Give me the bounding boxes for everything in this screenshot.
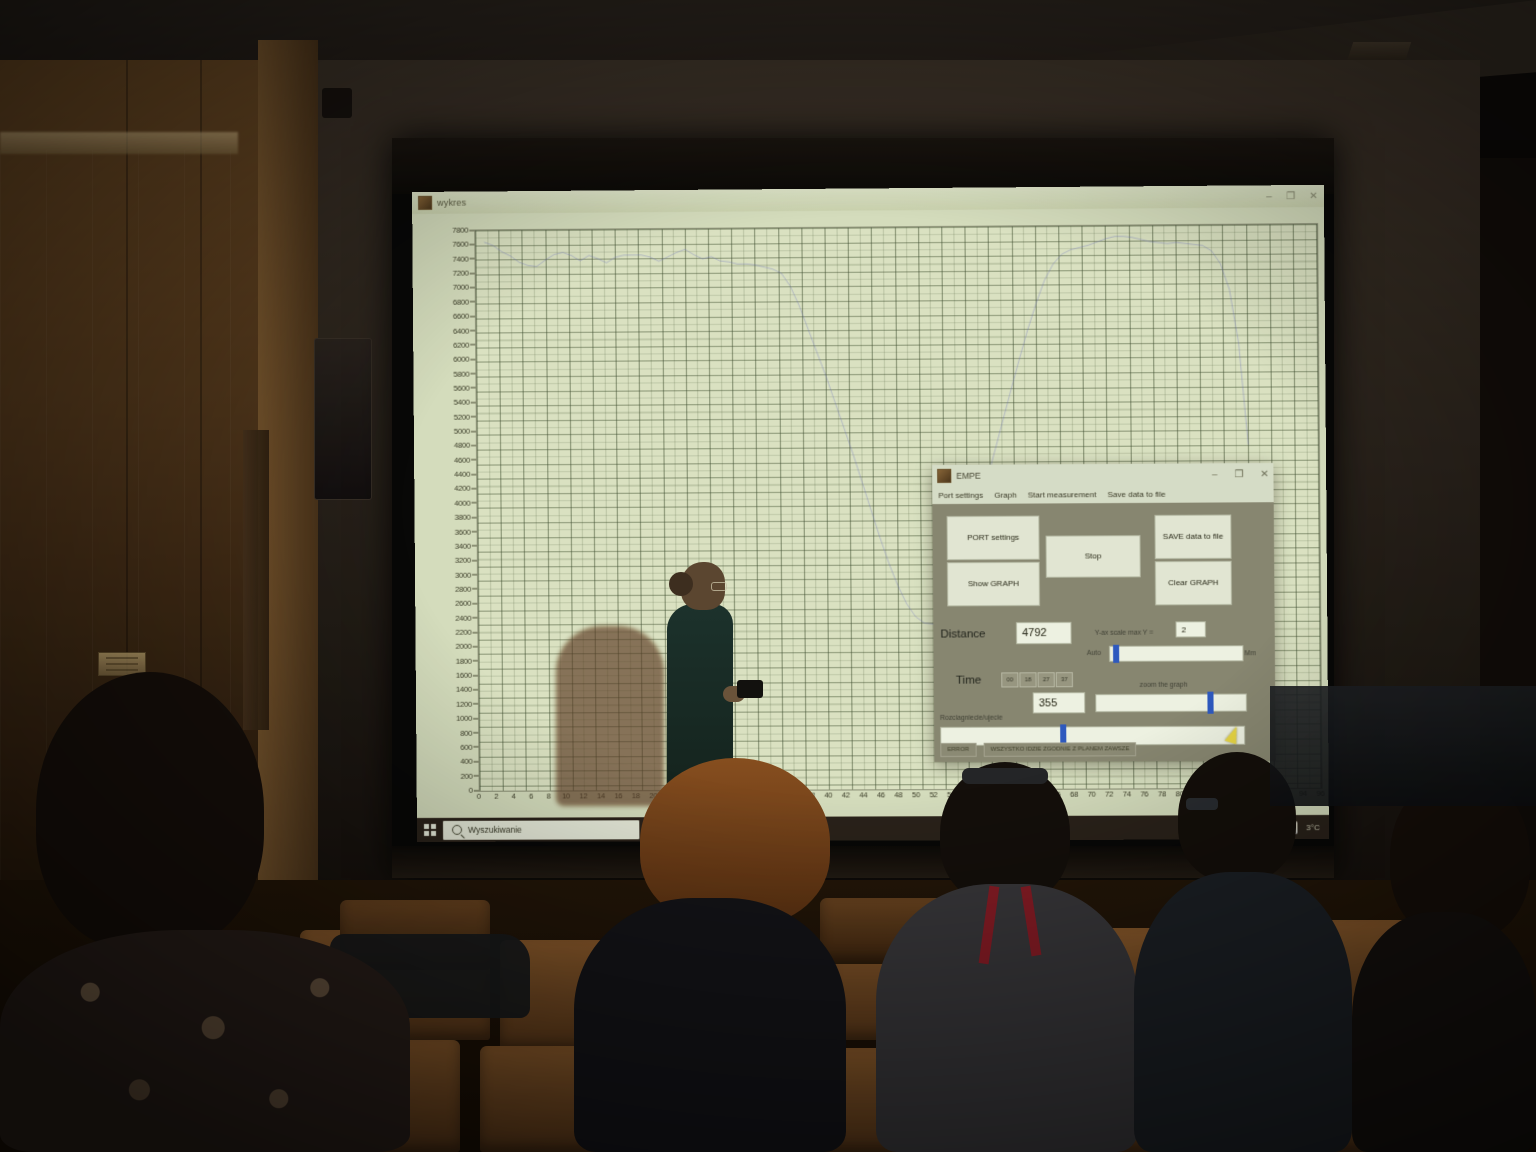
weather-temperature: 3°C	[1306, 823, 1320, 832]
time-label: Time	[956, 675, 981, 687]
empe-titlebar[interactable]: EMPE – ❐ ✕	[932, 463, 1274, 487]
chrome-icon[interactable]	[655, 823, 668, 836]
wall-sign	[98, 652, 146, 676]
status-error: ERROR	[940, 743, 976, 757]
chair	[1080, 928, 1280, 1040]
projected-desktop: wykres – ❐ ✕ 020040060080010001200140016…	[412, 185, 1329, 842]
menu-start-measurement[interactable]: Start measurement	[1028, 490, 1097, 499]
wood-planks	[0, 150, 262, 970]
x-tick-label: 32	[754, 791, 762, 800]
screen-bottom-bar	[392, 846, 1334, 878]
ceiling-light	[0, 132, 238, 154]
notes-icon[interactable]	[734, 822, 747, 835]
windows-logo-icon	[424, 824, 436, 836]
coat-on-chair	[330, 934, 530, 1018]
wall-speaker	[314, 338, 372, 500]
distance-value[interactable]: 4792	[1016, 622, 1072, 644]
time-segment-seconds[interactable]: 27	[1038, 672, 1055, 687]
y-tick-label: 6800	[453, 297, 469, 306]
y-tick-label: 3600	[455, 527, 471, 536]
x-tick-label: 8	[547, 792, 551, 801]
x-tick-label: 68	[1070, 790, 1078, 799]
close-icon[interactable]: ✕	[1309, 190, 1318, 201]
auto-label: Auto	[1087, 650, 1101, 657]
tray-icon-2[interactable]	[1262, 821, 1275, 834]
port-settings-button[interactable]: PORT settings	[947, 516, 1040, 561]
y-scale-value[interactable]: 2	[1175, 621, 1205, 637]
y-tick-label: 6200	[453, 340, 469, 349]
y-tick-label: 800	[460, 728, 472, 737]
search-input[interactable]: Wyszukiwanie	[443, 820, 639, 840]
empe-app-icon	[937, 469, 951, 483]
x-tick-label: 88	[1246, 789, 1254, 798]
calc-icon[interactable]	[760, 822, 773, 835]
x-tick-label: 38	[807, 791, 815, 800]
y-tick-label: 200	[460, 771, 472, 780]
y-tick-label: 3200	[455, 555, 471, 564]
app-icon	[418, 196, 432, 210]
y-tick-label: 4000	[454, 498, 470, 507]
x-tick-label: 72	[1105, 790, 1113, 799]
empe-menubar[interactable]: Port settings Graph Start measurement Sa…	[932, 485, 1273, 504]
stop-button[interactable]: Stop	[1046, 535, 1141, 578]
y-tick-label: 2000	[455, 642, 471, 651]
x-tick-label: 66	[1052, 790, 1060, 799]
y-tick-label: 1200	[456, 699, 472, 708]
ceiling-vent	[1347, 42, 1411, 62]
clear-graph-button[interactable]: Clear GRAPH	[1155, 561, 1232, 606]
status-message: WSZYSTKO IDZIE ZGODNIE Z PLANEM ZAWSZE	[983, 742, 1136, 757]
tray-icon-1[interactable]	[1239, 821, 1252, 834]
y-tick-label: 4200	[454, 484, 470, 493]
y-tick-label: 5200	[454, 412, 470, 421]
x-tick-label: 54	[947, 790, 955, 799]
y-tick-label: 1600	[456, 670, 472, 679]
x-tick-label: 92	[1281, 789, 1289, 798]
y-scale-slider[interactable]	[1109, 645, 1244, 662]
unit-label: Mm	[1244, 650, 1256, 657]
y-tick-label: 7200	[453, 268, 469, 277]
chair	[230, 1040, 460, 1152]
cloud-icon	[1284, 821, 1297, 834]
x-tick-label: 46	[877, 790, 885, 799]
x-tick-label: 24	[684, 791, 692, 800]
people-icon[interactable]	[805, 822, 818, 835]
time-segment-hours[interactable]: 00	[1001, 672, 1018, 687]
x-tick-label: 30	[737, 791, 745, 800]
y-tick-label: 2400	[455, 613, 471, 622]
menu-port-settings[interactable]: Port settings	[938, 491, 983, 500]
chair	[300, 930, 490, 1040]
y-tick-label: 4600	[454, 455, 470, 464]
show-graph-button[interactable]: Show GRAPH	[947, 562, 1040, 607]
x-axis: 0246810121416182022242628303234363840424…	[479, 789, 1323, 812]
x-tick-label: 86	[1228, 789, 1236, 798]
wall-sensor	[322, 88, 352, 118]
x-tick-label: 96	[1317, 789, 1325, 798]
x-tick-label: 40	[824, 791, 832, 800]
empe-minimize-icon[interactable]: –	[1212, 469, 1217, 480]
x-tick-label: 44	[859, 790, 867, 799]
zoom-slider[interactable]	[1095, 693, 1247, 712]
chair	[830, 930, 1020, 1040]
x-tick-label: 64	[1035, 790, 1043, 799]
y-tick-label: 1800	[456, 656, 472, 665]
y-tick-label: 3000	[455, 570, 471, 579]
zoom-graph-label: zoom the graph	[1140, 682, 1188, 689]
x-tick-label: 80	[1176, 789, 1184, 798]
x-tick-label: 78	[1158, 789, 1166, 798]
x-tick-label: 34	[772, 791, 780, 800]
y-scale-slider-thumb[interactable]	[1113, 645, 1119, 663]
x-tick-label: 48	[894, 790, 902, 799]
chair	[500, 940, 690, 1050]
x-tick-label: 26	[702, 791, 710, 800]
y-tick-label: 2200	[455, 627, 471, 636]
save-data-button[interactable]: SAVE data to file	[1154, 515, 1231, 560]
time-segment-minutes[interactable]: 18	[1019, 672, 1036, 687]
empe-dialog[interactable]: EMPE – ❐ ✕ Port settings Graph Start mea…	[932, 463, 1276, 762]
x-tick-label: 10	[562, 791, 570, 800]
x-tick-label: 76	[1140, 789, 1148, 798]
windows-taskbar[interactable]: Wyszukiwanie 3°C	[417, 815, 1329, 842]
taskbar-apps[interactable]	[655, 822, 818, 836]
x-tick-label: 84	[1211, 789, 1219, 798]
dot-icon[interactable]	[786, 826, 792, 832]
y-tick-label: 1000	[456, 713, 472, 722]
chair	[1260, 1036, 1500, 1152]
x-tick-label: 16	[614, 791, 622, 800]
empe-body: PORT settings Show GRAPH Stop SAVE data …	[932, 502, 1275, 762]
paint-icon[interactable]	[708, 822, 721, 835]
y-axis: 0200400600800100012001400160018002000220…	[412, 230, 476, 792]
y-tick-label: 7400	[452, 254, 468, 263]
menu-graph[interactable]: Graph	[994, 491, 1016, 500]
y-tick-label: 2600	[455, 599, 471, 608]
y-tick-label: 5400	[454, 397, 470, 406]
zoom-slider-thumb[interactable]	[1207, 692, 1213, 714]
stretch-label: Rozciagniecie/ujecie	[940, 715, 1003, 722]
y-tick-label: 5800	[453, 369, 469, 378]
y-tick-label: 1400	[456, 685, 472, 694]
y-tick-label: 7600	[452, 239, 468, 248]
chair	[480, 1046, 710, 1152]
y-tick-label: 7800	[452, 225, 468, 234]
y-tick-label: 5600	[453, 383, 469, 392]
x-tick-label: 0	[477, 792, 481, 801]
empe-window-controls[interactable]: – ❐ ✕	[1212, 469, 1269, 480]
chair	[1000, 1042, 1230, 1152]
x-tick-label: 62	[1017, 790, 1025, 799]
chair	[740, 1048, 970, 1152]
minimize-icon[interactable]: –	[1266, 191, 1272, 202]
x-tick-label: 52	[929, 790, 937, 799]
time-value[interactable]: 355	[1033, 692, 1086, 713]
y-tick-label: 7000	[453, 283, 469, 292]
empe-close-icon[interactable]: ✕	[1260, 469, 1268, 480]
x-tick-label: 42	[842, 790, 850, 799]
x-tick-label: 82	[1193, 789, 1201, 798]
x-tick-label: 60	[1000, 790, 1008, 799]
x-tick-label: 70	[1088, 790, 1096, 799]
x-tick-label: 2	[494, 792, 498, 801]
y-tick-label: 400	[460, 757, 472, 766]
start-button[interactable]	[417, 818, 443, 842]
system-tray[interactable]: 3°C	[1239, 820, 1329, 833]
x-tick-label: 28	[719, 791, 727, 800]
x-tick-label: 94	[1299, 789, 1307, 798]
x-tick-label: 14	[597, 791, 605, 800]
search-placeholder: Wyszukiwanie	[468, 825, 522, 835]
x-tick-label: 20	[649, 791, 657, 800]
y-tick-label: 4400	[454, 469, 470, 478]
x-tick-label: 22	[667, 791, 675, 800]
x-tick-label: 90	[1264, 789, 1272, 798]
explorer-icon[interactable]	[681, 823, 694, 836]
door-edge	[243, 430, 269, 730]
x-tick-label: 6	[529, 792, 533, 801]
y-tick-label: 3800	[454, 512, 470, 521]
y-scale-label: Y-ax scale max Y =	[1095, 630, 1154, 637]
empe-maximize-icon[interactable]: ❐	[1234, 469, 1243, 480]
y-tick-label: 6400	[453, 326, 469, 335]
time-segment-ms[interactable]: 37	[1056, 672, 1073, 687]
search-icon	[452, 825, 462, 835]
lecture-hall-scene: wykres – ❐ ✕ 020040060080010001200140016…	[0, 0, 1536, 1152]
maximize-icon[interactable]: ❐	[1286, 191, 1295, 202]
window-controls[interactable]: – ❐ ✕	[1266, 190, 1318, 201]
y-tick-label: 0	[469, 785, 473, 794]
x-tick-label: 58	[982, 790, 990, 799]
chart-window: wykres – ❐ ✕ 020040060080010001200140016…	[412, 185, 1329, 842]
x-tick-label: 50	[912, 790, 920, 799]
y-tick-label: 6600	[453, 311, 469, 320]
x-tick-label: 56	[965, 790, 973, 799]
x-tick-label: 36	[789, 791, 797, 800]
y-tick-label: 2800	[455, 584, 471, 593]
empe-title: EMPE	[956, 471, 980, 481]
y-tick-label: 4800	[454, 441, 470, 450]
distance-label: Distance	[940, 628, 985, 640]
x-tick-label: 12	[579, 791, 587, 800]
chart-window-title: wykres	[437, 198, 466, 208]
y-tick-label: 5000	[454, 426, 470, 435]
y-tick-label: 6000	[453, 354, 469, 363]
x-tick-label: 4	[512, 792, 516, 801]
menu-save-data[interactable]: Save data to file	[1107, 490, 1165, 499]
y-tick-label: 3400	[455, 541, 471, 550]
empe-statusbar: ERROR WSZYSTKO IDZIE ZGODNIE Z PLANEM ZA…	[940, 742, 1136, 757]
x-tick-label: 18	[632, 791, 640, 800]
x-tick-label: 74	[1123, 789, 1131, 798]
y-tick-label: 600	[460, 742, 472, 751]
